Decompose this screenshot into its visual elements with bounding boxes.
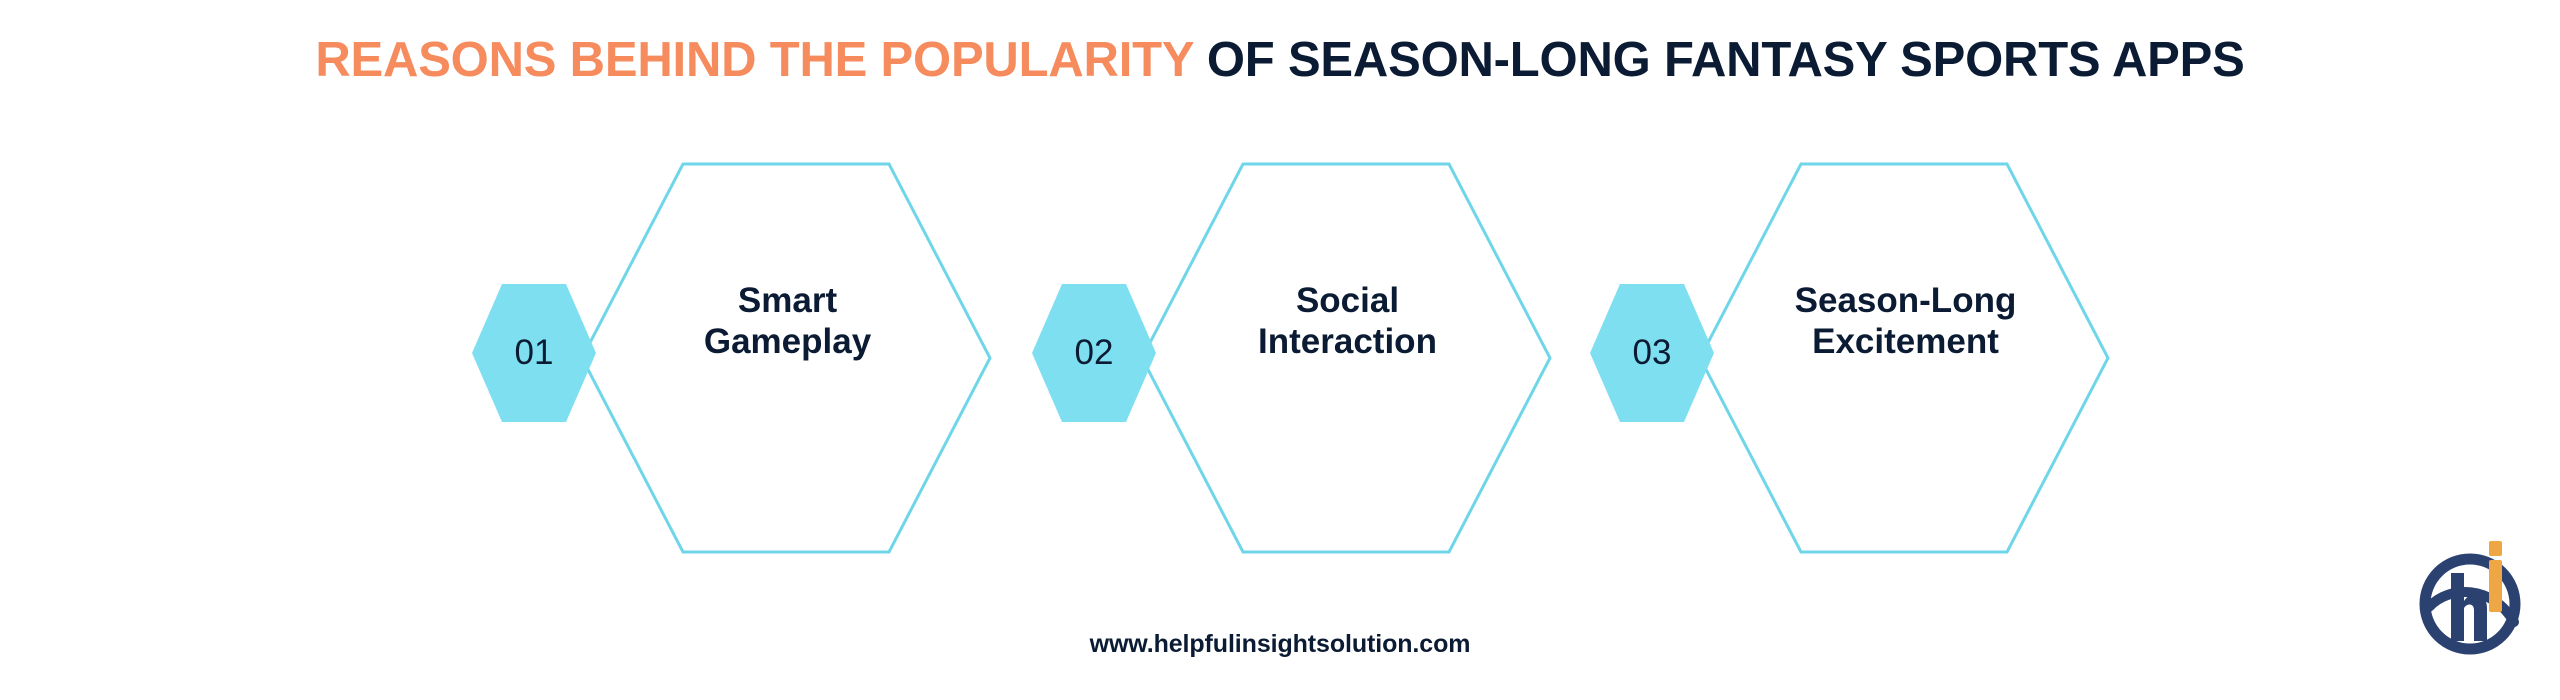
website-url: www.helpfulinsightsolution.com bbox=[0, 630, 2560, 659]
infographic-canvas: REASONS BEHIND THE POPULARITY OF SEASON-… bbox=[0, 0, 2560, 700]
hexagon-item-03[interactable]: Season-Long Excitement 03 bbox=[1588, 140, 2148, 560]
page-title-accent: REASONS BEHIND THE POPULARITY bbox=[315, 33, 1193, 87]
outline-hexagon-icon bbox=[580, 162, 992, 554]
outline-hexagon-icon bbox=[1140, 162, 1552, 554]
company-logo-icon bbox=[2415, 528, 2533, 660]
hexagon-item-01[interactable]: Smart Gameplay 01 bbox=[470, 140, 1030, 560]
number-hexagon-icon-03 bbox=[1588, 282, 1716, 424]
outline-hexagon-icon bbox=[1698, 162, 2110, 554]
page-title-main: OF SEASON-LONG FANTASY SPORTS APPS bbox=[1193, 33, 2244, 87]
page-title: REASONS BEHIND THE POPULARITY OF SEASON-… bbox=[0, 36, 2560, 85]
hexagon-item-02[interactable]: Social Interaction 02 bbox=[1030, 140, 1590, 560]
hexagon-row: Smart Gameplay 01 Social Interaction bbox=[0, 140, 2560, 560]
number-hexagon-icon-01 bbox=[470, 282, 598, 424]
number-hexagon-icon-02 bbox=[1030, 282, 1158, 424]
